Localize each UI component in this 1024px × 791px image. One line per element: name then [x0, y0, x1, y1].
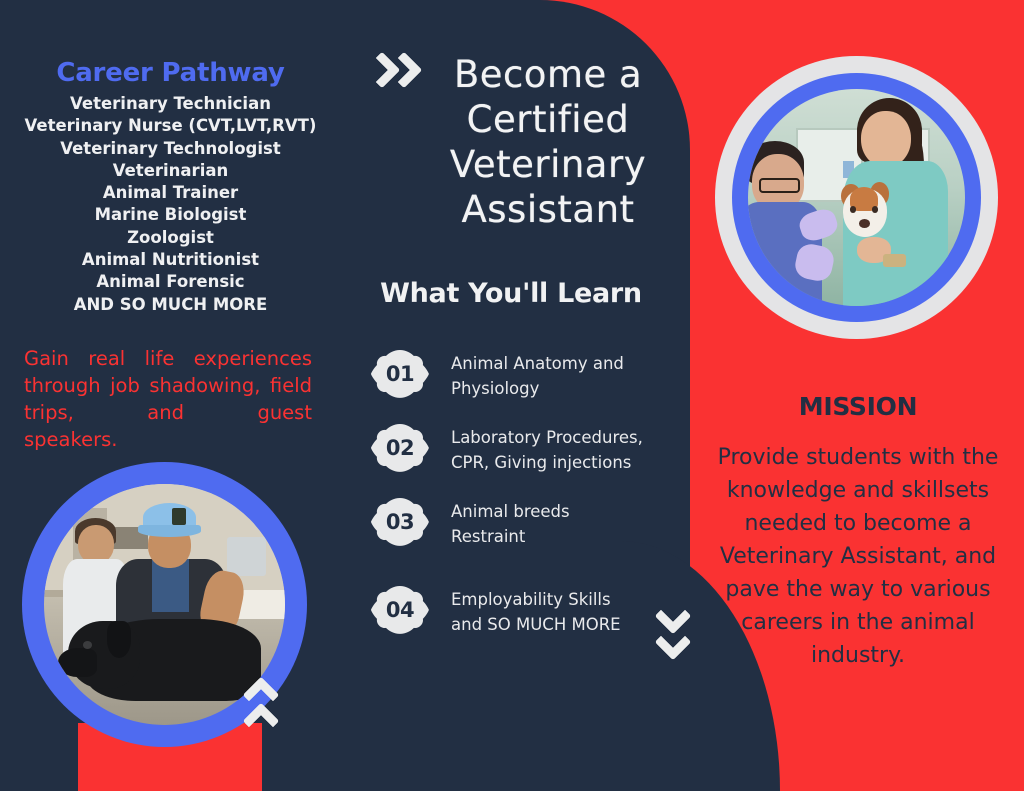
- learn-item: 02 Laboratory Procedures, CPR, Giving in…: [371, 419, 691, 477]
- mission-body: Provide students with the knowledge and …: [700, 441, 1016, 672]
- pathway-item: Animal Trainer: [0, 182, 341, 204]
- learn-item-line: Animal Anatomy and: [451, 351, 624, 376]
- badge-number: 02: [371, 419, 429, 477]
- pathway-item: Veterinary Technologist: [0, 138, 341, 160]
- main-title: Become a Certified Veterinary Assistant: [417, 52, 679, 232]
- number-badge-04: 04: [371, 581, 429, 639]
- number-badge-03: 03: [371, 493, 429, 551]
- what-you-will-learn-list: 01 Animal Anatomy and Physiology 02 Labo…: [371, 345, 691, 655]
- experiences-paragraph-last: speakers.: [24, 426, 312, 453]
- experiences-paragraph: Gain real life experiences through job s…: [24, 345, 312, 453]
- career-pathway-title: Career Pathway: [0, 58, 341, 88]
- badge-number: 04: [371, 581, 429, 639]
- learn-item: 01 Animal Anatomy and Physiology: [371, 345, 691, 403]
- main-title-line: Veterinary: [417, 142, 679, 187]
- main-title-line: Become a: [417, 52, 679, 97]
- what-you-will-learn-heading: What You'll Learn: [341, 278, 681, 309]
- learn-item-line: Animal breeds: [451, 499, 570, 524]
- pathway-item: Zoologist: [0, 227, 341, 249]
- main-title-line: Assistant: [417, 187, 679, 232]
- double-chevron-down-icon: [660, 603, 704, 665]
- chevron-up-icon: [243, 703, 280, 740]
- learn-item-line: Laboratory Procedures,: [451, 425, 643, 450]
- chevron-down-icon: [655, 624, 692, 661]
- veterinarian-photo: [748, 89, 965, 306]
- learn-item-line: Restraint: [451, 524, 570, 549]
- pathway-item: Veterinary Nurse (CVT,LVT,RVT): [0, 115, 341, 137]
- learn-item-line: Employability Skills: [451, 587, 621, 612]
- learn-item: 04 Employability Skills and SO MUCH MORE: [371, 581, 691, 639]
- poster-canvas: Career Pathway Veterinary Technician Vet…: [0, 0, 1024, 791]
- career-pathway-block: Career Pathway Veterinary Technician Vet…: [0, 58, 341, 316]
- experiences-paragraph-main: Gain real life experiences through job s…: [24, 347, 312, 424]
- learn-item: 03 Animal breeds Restraint: [371, 493, 691, 551]
- learn-item-text: Laboratory Procedures, CPR, Giving injec…: [451, 419, 643, 475]
- learn-item-text: Employability Skills and SO MUCH MORE: [451, 581, 621, 637]
- pathway-item: Animal Nutritionist: [0, 249, 341, 271]
- learn-item-text: Animal Anatomy and Physiology: [451, 345, 624, 401]
- veterinarian-photo-circle: [715, 56, 998, 339]
- pathway-item: Marine Biologist: [0, 204, 341, 226]
- mission-heading: MISSION: [700, 392, 1016, 421]
- learn-item-line: CPR, Giving injections: [451, 450, 643, 475]
- learn-item-line: Physiology: [451, 376, 624, 401]
- career-pathway-list: Veterinary Technician Veterinary Nurse (…: [0, 93, 341, 316]
- double-chevron-up-icon: [248, 682, 292, 744]
- pathway-item: Veterinary Technician: [0, 93, 341, 115]
- number-badge-01: 01: [371, 345, 429, 403]
- mission-block: MISSION Provide students with the knowle…: [700, 392, 1016, 672]
- chevron-right-icon: [386, 52, 423, 89]
- learn-item-line: and SO MUCH MORE: [451, 612, 621, 637]
- double-chevron-right-icon: [369, 57, 439, 92]
- learn-item-text: Animal breeds Restraint: [451, 493, 570, 549]
- blue-ring: [732, 73, 981, 322]
- badge-number: 03: [371, 493, 429, 551]
- pathway-item: AND SO MUCH MORE: [0, 294, 341, 316]
- pathway-item: Animal Forensic: [0, 271, 341, 293]
- clinic-scene-illustration: [748, 89, 965, 306]
- badge-number: 01: [371, 345, 429, 403]
- number-badge-02: 02: [371, 419, 429, 477]
- main-title-line: Certified: [417, 97, 679, 142]
- pathway-item: Veterinarian: [0, 160, 341, 182]
